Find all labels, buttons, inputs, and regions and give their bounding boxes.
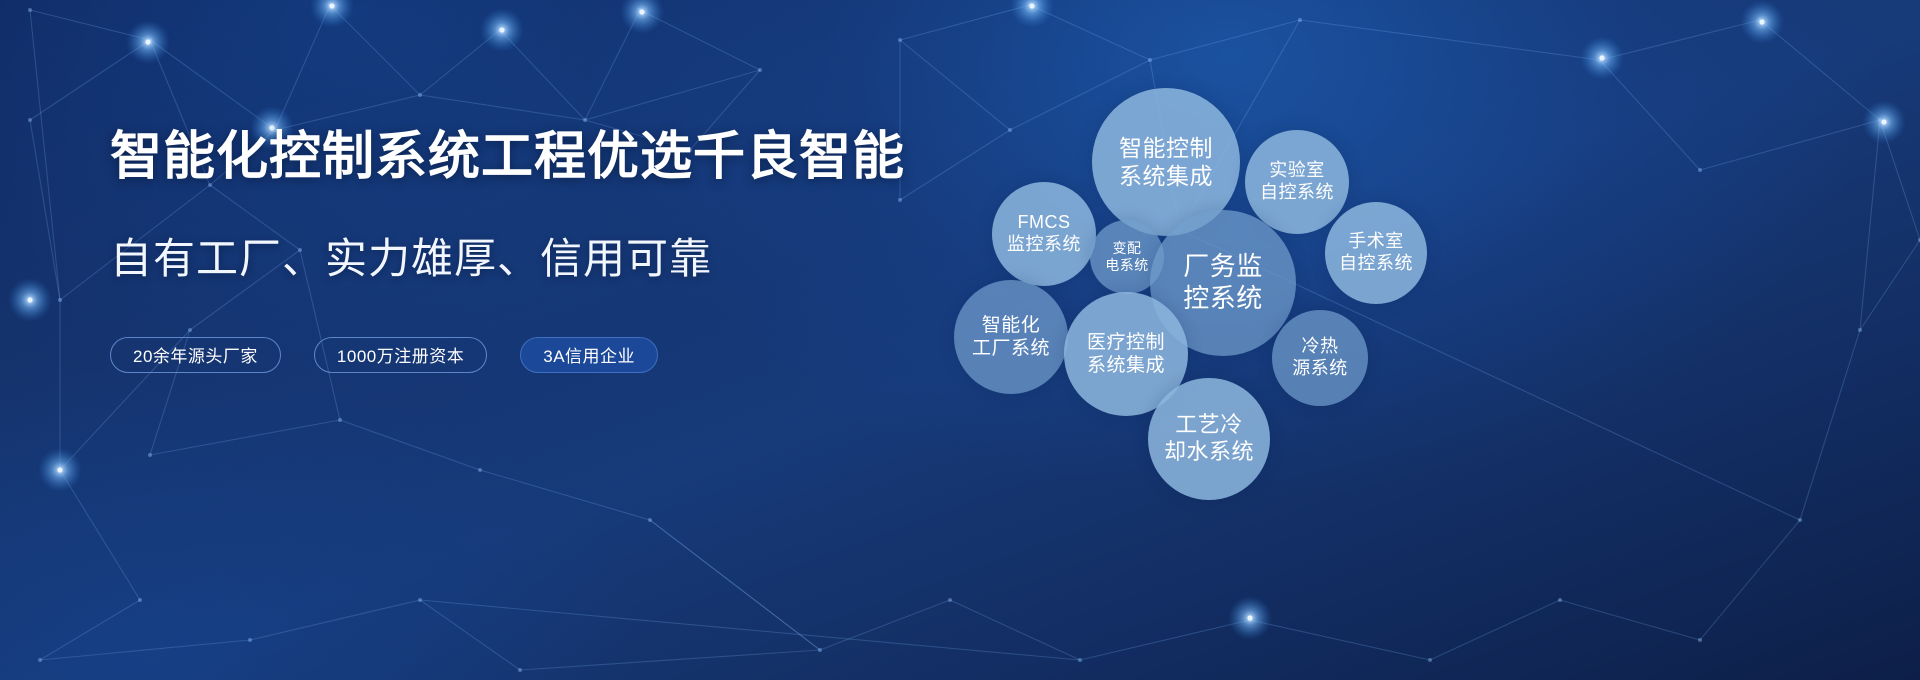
page-subtitle: 自有工厂、实力雄厚、信用可靠 (110, 234, 930, 284)
service-bubble-label: 手术室 自控系统 (1339, 231, 1413, 275)
service-bubble[interactable]: 冷热 源系统 (1272, 310, 1368, 406)
badge-pill[interactable]: 3A信用企业 (520, 337, 658, 373)
badge-list: 20余年源头厂家1000万注册资本3A信用企业 (110, 337, 930, 373)
service-bubble[interactable]: 工艺冷 却水系统 (1148, 378, 1270, 500)
hero-banner: 智能化控制系统工程优选千良智能 自有工厂、实力雄厚、信用可靠 20余年源头厂家1… (0, 0, 1920, 680)
service-bubble-label: 冷热 源系统 (1292, 336, 1348, 380)
service-bubble-label: 厂务监 控系统 (1183, 251, 1263, 314)
service-bubble[interactable]: 手术室 自控系统 (1325, 202, 1427, 304)
service-bubble[interactable]: 实验室 自控系统 (1245, 130, 1349, 234)
badge-pill[interactable]: 20余年源头厂家 (110, 337, 281, 373)
service-bubble-label: FMCS 监控系统 (1007, 212, 1081, 256)
service-bubble-label: 变配 电系统 (1105, 240, 1149, 274)
service-bubble-cluster: 智能控制 系统集成实验室 自控系统FMCS 监控系统变配 电系统手术室 自控系统… (940, 40, 1700, 500)
page-title: 智能化控制系统工程优选千良智能 (110, 128, 930, 186)
service-bubble-label: 实验室 自控系统 (1260, 160, 1334, 204)
service-bubble-label: 医疗控制 系统集成 (1087, 331, 1165, 377)
service-bubble[interactable]: 智能化 工厂系统 (954, 280, 1068, 394)
badge-pill[interactable]: 1000万注册资本 (314, 337, 487, 373)
service-bubble-label: 工艺冷 却水系统 (1164, 412, 1254, 466)
service-bubble-label: 智能化 工厂系统 (972, 314, 1050, 360)
hero-copy-block: 智能化控制系统工程优选千良智能 自有工厂、实力雄厚、信用可靠 20余年源头厂家1… (110, 128, 930, 373)
service-bubble-label: 智能控制 系统集成 (1119, 134, 1213, 190)
service-bubble[interactable]: FMCS 监控系统 (992, 182, 1096, 286)
